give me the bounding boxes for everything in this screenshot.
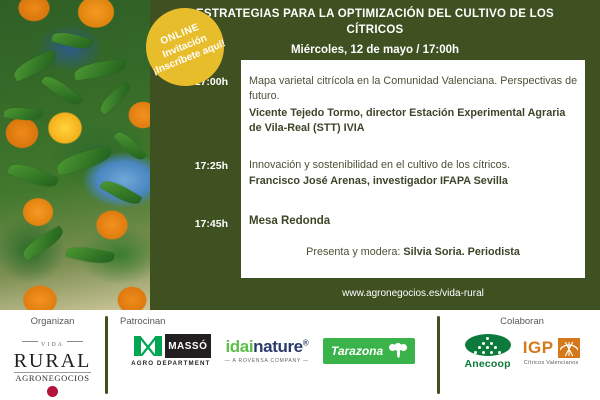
agenda-time-3: 17:45h	[150, 218, 236, 230]
registered-mark-icon: ®	[303, 338, 309, 347]
agenda-description-2: Innovación y sostenibilidad en el cultiv…	[249, 158, 579, 173]
idainature-nature: nature	[253, 337, 303, 356]
patrocinan-logos: MASSÓ AGRO DEPARTMENT idainature® — A RO…	[112, 334, 434, 367]
moderator-prefix: Presenta y modera:	[306, 246, 403, 258]
anecoop-name: Anecoop	[464, 358, 510, 370]
moderator-name: Silvia Soria. Periodista	[403, 246, 519, 258]
citrus-grove-photo	[0, 0, 150, 310]
organizan-logos: VIDA RURAL AGRONEGOCIOS	[0, 334, 105, 397]
masso-tagline: AGRO DEPARTMENT	[131, 360, 211, 367]
agenda-description-1: Mapa varietal citrícola en la Comunidad …	[249, 74, 579, 105]
patrocinan-label: Patrocinan	[112, 316, 434, 327]
vida-rural-rural: RURAL	[14, 351, 92, 371]
colaboran-logos: Anecoop IGP Cítricos Valencianos	[444, 334, 600, 370]
patrocinan-column: Patrocinan MASSÓ AGRO DEPARTMENT idainat…	[112, 316, 434, 367]
agenda-entry-3: Mesa Redonda	[249, 215, 579, 227]
tarazona-name: Tarazona	[331, 344, 383, 358]
agenda-speaker-1: Vicente Tejedo Tormo, director Estación …	[249, 106, 579, 137]
vida-rural-vida: VIDA	[41, 342, 64, 348]
idainature-tagline: — A ROVENSA COMPANY —	[225, 358, 309, 364]
footer-divider-left	[105, 316, 108, 394]
organizan-label: Organizan	[0, 316, 105, 327]
masso-m-icon	[131, 334, 165, 358]
agenda-entry-2: Innovación y sostenibilidad en el cultiv…	[249, 158, 579, 190]
colaboran-column: Colaboran Anecoop IGP C	[444, 316, 600, 370]
colaboran-label: Colaboran	[444, 316, 600, 327]
tarazona-tree-icon	[389, 343, 407, 359]
masso-logo[interactable]: MASSÓ AGRO DEPARTMENT	[131, 334, 211, 367]
agenda-section: 17:00h Mapa varietal citrícola en la Com…	[150, 60, 600, 310]
website-url[interactable]: www.agronegocios.es/vida-rural	[241, 288, 585, 299]
vida-rural-mark-icon	[47, 386, 58, 397]
agenda-entry-1: Mapa varietal citrícola en la Comunidad …	[249, 74, 579, 136]
vida-rural-logo[interactable]: VIDA RURAL AGRONEGOCIOS	[14, 334, 92, 397]
footer-sponsors: Organizan VIDA RURAL AGRONEGOCIOS Patroc…	[0, 310, 600, 400]
vida-rural-agronegocios: AGRONEGOCIOS	[14, 372, 92, 383]
agenda-speaker-2: Francisco José Arenas, investigador IFAP…	[249, 174, 579, 189]
agenda-speaker-3: Mesa Redonda	[249, 215, 579, 227]
masso-name: MASSÓ	[165, 334, 211, 358]
agenda-time-2: 17:25h	[150, 160, 236, 172]
idainature-logo[interactable]: idainature® — A ROVENSA COMPANY —	[225, 338, 309, 364]
moderator-line: Presenta y modera: Silvia Soria. Periodi…	[241, 246, 585, 258]
igp-sun-icon	[558, 338, 580, 358]
anecoop-logo[interactable]: Anecoop	[464, 334, 510, 370]
organizan-column: Organizan VIDA RURAL AGRONEGOCIOS	[0, 316, 105, 397]
idainature-idai: idai	[225, 337, 253, 356]
igp-name: IGP	[523, 338, 554, 358]
igp-tagline: Cítricos Valencianos	[523, 360, 580, 366]
igp-logo[interactable]: IGP Cítricos Valencianos	[523, 338, 580, 366]
poster-root: ONLINE Invitación ¡Inscríbete aquí! ESTR…	[0, 0, 600, 400]
anecoop-mark-icon	[465, 334, 511, 356]
tarazona-logo[interactable]: Tarazona	[323, 338, 415, 364]
footer-divider-right	[437, 316, 440, 394]
